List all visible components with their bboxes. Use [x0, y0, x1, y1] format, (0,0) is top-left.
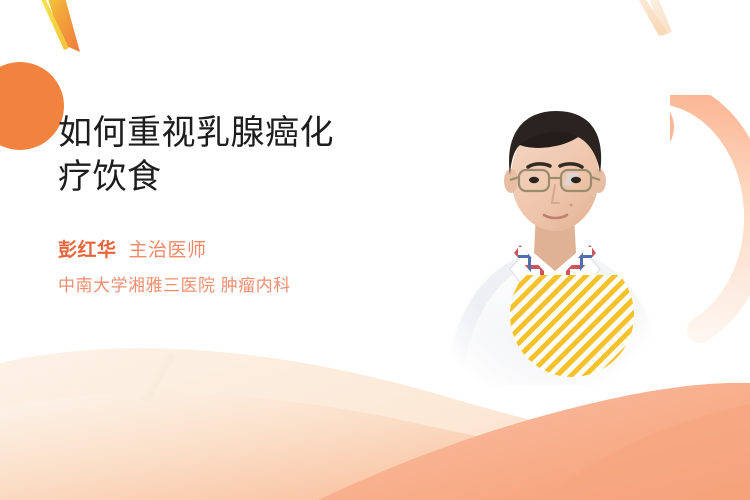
top-right-diagonal-stripes — [632, 0, 672, 36]
credentials-block: 彭红华主治医师 中南大学湘雅三医院 肿瘤内科 — [58, 237, 428, 299]
orange-circle-decoration — [0, 62, 64, 150]
doctor-name: 彭红华 — [58, 240, 117, 261]
doctor-affiliation: 中南大学湘雅三医院 肿瘤内科 — [58, 272, 428, 299]
doctor-title-line: 彭红华主治医师 — [58, 237, 428, 266]
doctor-job-title: 主治医师 — [129, 240, 207, 261]
faint-diagonal-stripe — [140, 352, 176, 404]
poster-canvas: 如何重视乳腺癌化 疗饮食 彭红华主治医师 中南大学湘雅三医院 肿瘤内科 — [0, 0, 750, 500]
page-title: 如何重视乳腺癌化 疗饮食 — [58, 112, 428, 199]
text-content-block: 如何重视乳腺癌化 疗饮食 彭红华主治医师 中南大学湘雅三医院 肿瘤内科 — [58, 112, 428, 299]
doctor-portrait — [440, 85, 670, 385]
top-left-diagonal-stripes — [36, 0, 80, 52]
